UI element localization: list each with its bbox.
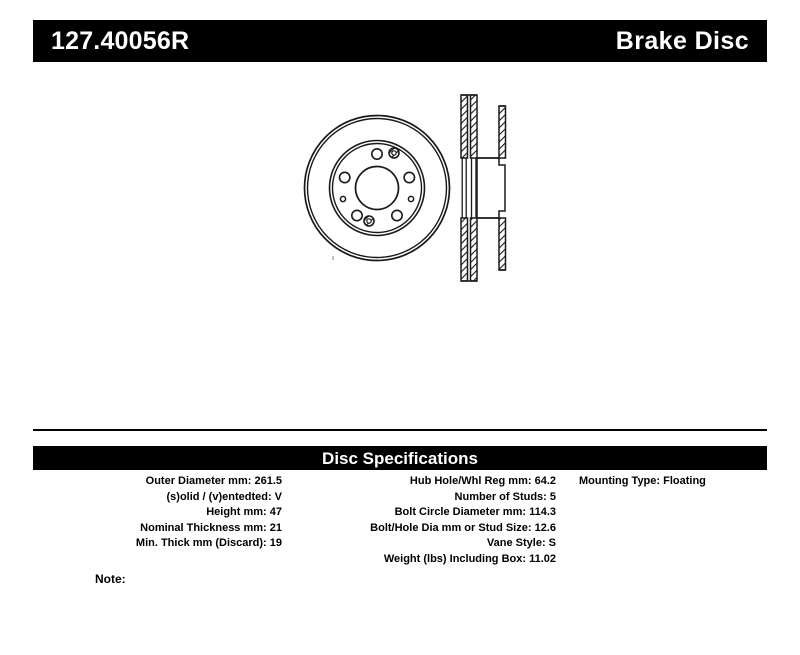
rotor-outer-edge-inner-line — [308, 119, 447, 258]
specs-column-right: Mounting Type: Floating — [579, 474, 767, 490]
lower-hat-mounting-face — [499, 218, 506, 270]
spec-row: Outer Diameter mm: 261.5 — [33, 474, 282, 490]
hat-wall-lines — [462, 158, 476, 218]
spec-row: Min. Thick mm (Discard): 19 — [33, 536, 282, 552]
upper-outboard-friction-plate — [461, 95, 468, 158]
lower-outboard-friction-plate — [461, 218, 468, 281]
spec-row: Nominal Thickness mm: 21 — [33, 521, 282, 537]
brake-disc-drawing — [33, 70, 767, 415]
threaded-puller-hole — [389, 148, 399, 158]
spec-row: Bolt/Hole Dia mm or Stud Size: 12.6 — [286, 521, 556, 537]
spec-row: Mounting Type: Floating — [579, 474, 767, 490]
lug-hole — [404, 172, 414, 182]
lug-hole — [340, 172, 350, 182]
upper-hat-mounting-face — [499, 106, 506, 158]
section-divider — [33, 429, 767, 431]
lug-hole — [392, 210, 402, 220]
note-label: Note: — [95, 573, 126, 585]
upper-inboard-friction-plate — [471, 95, 478, 158]
spec-row: Hub Hole/Whl Reg mm: 64.2 — [286, 474, 556, 490]
spec-row: Height mm: 47 — [33, 505, 282, 521]
hat-flange-profile — [477, 158, 505, 218]
threaded-puller-hole — [364, 216, 374, 226]
spec-row: Bolt Circle Diameter mm: 114.3 — [286, 505, 556, 521]
spec-row: Number of Studs: 5 — [286, 490, 556, 506]
spec-sheet: 127.40056R Brake Disc — [0, 0, 800, 655]
brake-disc-face-view — [305, 116, 450, 261]
specifications-body: Outer Diameter mm: 261.5 (s)olid / (v)en… — [33, 474, 767, 584]
lower-inboard-friction-plate — [471, 218, 478, 281]
specifications-title: Disc Specifications — [322, 450, 478, 467]
hat-outer-edge — [333, 144, 422, 233]
specs-column-middle: Hub Hole/Whl Reg mm: 64.2 Number of Stud… — [286, 474, 556, 567]
lug-hole — [352, 210, 362, 220]
header-bar: 127.40056R Brake Disc — [33, 20, 767, 62]
hub-center-bore — [356, 167, 399, 210]
rotor-outer-edge-outer-line — [305, 116, 450, 261]
spec-row: (s)olid / (v)entedted: V — [33, 490, 282, 506]
pilot-hole — [340, 196, 345, 201]
pilot-hole — [408, 196, 413, 201]
spec-row: Weight (lbs) Including Box: 11.02 — [286, 552, 556, 568]
brake-disc-cross-section-view — [461, 95, 506, 281]
friction-ring-inner-edge — [330, 141, 425, 236]
technical-drawing-area — [33, 70, 767, 415]
spec-row: Vane Style: S — [286, 536, 556, 552]
lug-hole — [372, 149, 382, 159]
part-number-label: 127.40056R — [51, 29, 189, 54]
specifications-header-bar: Disc Specifications — [33, 446, 767, 470]
product-type-label: Brake Disc — [616, 29, 749, 54]
note-block: Note: — [95, 570, 695, 588]
specs-column-left: Outer Diameter mm: 261.5 (s)olid / (v)en… — [33, 474, 282, 552]
